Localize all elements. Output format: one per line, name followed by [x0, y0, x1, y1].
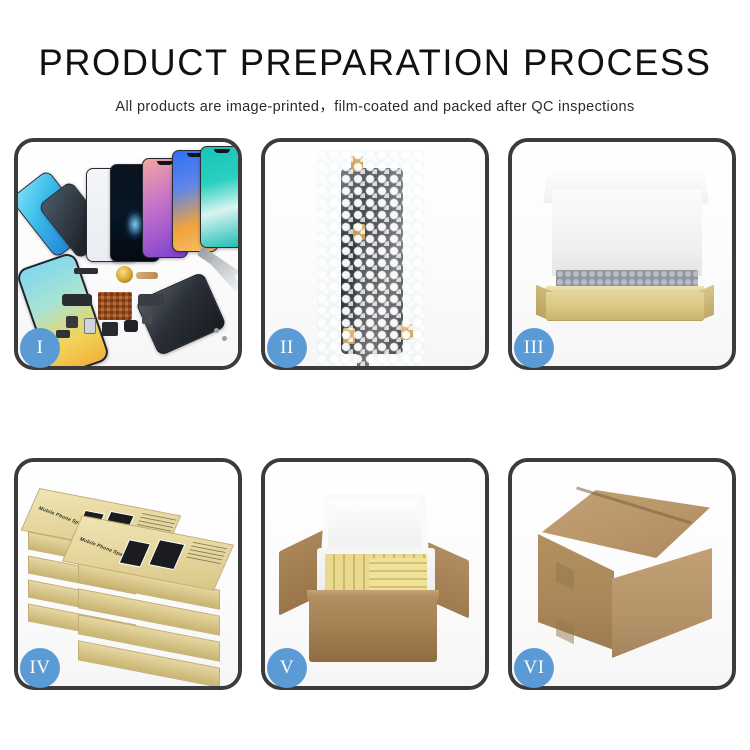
panel-sealed-carton: VI — [508, 458, 736, 690]
box-window — [148, 539, 185, 570]
step-badge-3: III — [514, 328, 554, 368]
foam-box-lid — [321, 494, 429, 554]
copper-coil-part — [116, 266, 133, 283]
carton-body — [309, 596, 437, 662]
notch-icon — [214, 149, 230, 153]
product-preparation-infographic: PRODUCT PREPARATION PROCESS All products… — [0, 0, 750, 750]
page-subtitle: All products are image-printed，film-coat… — [0, 95, 750, 116]
carton-left-face — [538, 534, 614, 650]
panel-stacked-boxes: Mobile Phone Spare Parts Mobile Phone Sp… — [14, 458, 242, 690]
kraft-box-front — [546, 292, 704, 321]
step-badge-2: II — [267, 328, 307, 368]
speaker-part — [102, 322, 118, 336]
step-badge-4: IV — [20, 648, 60, 688]
flex-cable-part — [74, 268, 98, 274]
gold-connector-part — [136, 272, 158, 279]
plastic-sheen — [317, 150, 425, 366]
carton-right-face — [612, 548, 712, 658]
small-ic-part — [66, 316, 78, 328]
kraft-boxes-inside — [369, 558, 427, 594]
chip-grid-part — [98, 292, 132, 320]
phone-screen-teal — [200, 146, 238, 248]
vibrator-part — [124, 320, 138, 332]
foam-sheet — [552, 190, 702, 276]
step-badge-1: I — [20, 328, 60, 368]
box-printed-text — [185, 542, 227, 567]
box-window — [119, 539, 152, 567]
panel-products: I — [14, 138, 242, 370]
notch-icon — [157, 161, 173, 165]
header: PRODUCT PREPARATION PROCESS All products… — [0, 0, 750, 116]
sim-tray-part — [84, 318, 96, 334]
panel-bubble-wrap: II — [261, 138, 489, 370]
antenna-part — [56, 330, 70, 338]
carton-top-face — [542, 490, 710, 558]
step-badge-6: VI — [514, 648, 554, 688]
screw-part — [214, 328, 219, 333]
button-part — [142, 314, 152, 324]
process-step-grid: I II — [14, 138, 736, 690]
screw-part — [222, 336, 227, 341]
flex-ribbon-part — [138, 294, 164, 306]
page-title: PRODUCT PREPARATION PROCESS — [8, 44, 743, 81]
notch-icon — [127, 167, 143, 171]
step-badge-5: V — [267, 648, 307, 688]
camera-module-part — [62, 294, 92, 306]
panel-carton-packing: V — [261, 458, 489, 690]
panel-foam-box: III — [508, 138, 736, 370]
